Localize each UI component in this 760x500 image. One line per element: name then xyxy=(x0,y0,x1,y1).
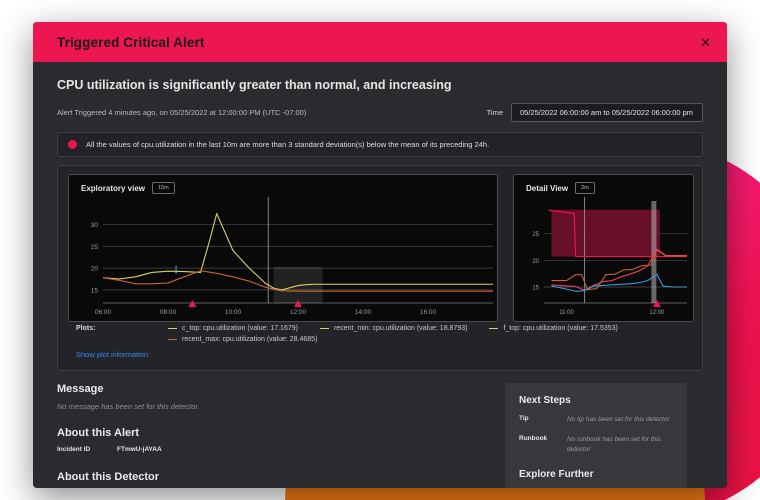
exploratory-chart-title: Exploratory view xyxy=(81,184,145,193)
legend-swatch-icon xyxy=(168,328,177,330)
exploratory-chart-header: Exploratory view 15m xyxy=(69,175,497,194)
dialog-title: Triggered Critical Alert xyxy=(57,35,204,50)
detail-plot-area: 15202511:0012:00 xyxy=(514,197,693,326)
charts-panel: Exploratory view 15m 1520253006:0008:001… xyxy=(57,165,703,371)
incident-id-row: Incident ID FTmwU-jAYAA xyxy=(57,446,489,453)
alert-triggered-meta: Alert Triggered 4 minutes ago, on 05/25/… xyxy=(57,108,306,117)
time-range-control: Time xyxy=(487,103,703,122)
exploratory-resolution-badge[interactable]: 15m xyxy=(152,182,175,194)
svg-text:15: 15 xyxy=(91,287,99,294)
svg-text:15: 15 xyxy=(532,286,539,292)
svg-text:06:00: 06:00 xyxy=(95,309,112,316)
bottom-sections: Message No message has been set for this… xyxy=(57,383,703,488)
next-steps-panel: Next Steps Tip No tip has been set for t… xyxy=(505,383,687,488)
next-steps-runbook-row: Runbook No runbook has been set for this… xyxy=(519,435,673,455)
svg-text:08:00: 08:00 xyxy=(160,309,177,316)
plot-legend-item[interactable]: c_top: cpu.utilization (value: 17.1679) xyxy=(168,325,298,332)
dialog-body: CPU utilization is significantly greater… xyxy=(33,62,727,488)
svg-text:25: 25 xyxy=(532,232,539,238)
tip-value: No tip has been set for this detector xyxy=(567,415,670,425)
runbook-key: Runbook xyxy=(519,435,557,455)
detail-chart-header: Detail View 2m xyxy=(514,175,693,194)
exploratory-plot-area: 1520253006:0008:0010:0012:0014:0016:00 xyxy=(69,197,497,326)
legend-swatch-icon xyxy=(489,328,498,330)
tip-key: Tip xyxy=(519,415,557,425)
plots-legend-label: Plots: xyxy=(76,325,168,343)
svg-text:12:00: 12:00 xyxy=(649,310,665,316)
detail-resolution-badge[interactable]: 2m xyxy=(575,182,595,194)
close-icon[interactable]: ✕ xyxy=(700,36,711,49)
dialog-header: Triggered Critical Alert ✕ xyxy=(33,22,727,62)
exploratory-svg: 1520253006:0008:0010:0012:0014:0016:00 xyxy=(69,197,499,321)
alert-condition-bar: All the values of cpu.utilization in the… xyxy=(57,132,703,157)
plot-legend-label: c_top: cpu.utilization (value: 17.1679) xyxy=(182,325,298,332)
incident-id-key: Incident ID xyxy=(57,446,103,453)
plot-legend-item[interactable]: recent_min: cpu.utilization (value: 18.8… xyxy=(320,325,467,332)
svg-text:12:00: 12:00 xyxy=(290,309,307,316)
plots-legend-block: Plots: c_top: cpu.utilization (value: 17… xyxy=(66,325,694,362)
about-alert-section-title: About this Alert xyxy=(57,427,489,439)
svg-text:20: 20 xyxy=(91,266,99,273)
alert-condition-text: All the values of cpu.utilization in the… xyxy=(86,140,489,149)
exploratory-view-chart[interactable]: Exploratory view 15m 1520253006:0008:001… xyxy=(68,174,498,322)
incident-id-value: FTmwU-jAYAA xyxy=(117,446,162,453)
plots-legend: Plots: c_top: cpu.utilization (value: 17… xyxy=(66,325,694,343)
alert-dialog: Triggered Critical Alert ✕ CPU utilizati… xyxy=(33,22,727,488)
next-steps-title: Next Steps xyxy=(519,395,673,406)
svg-text:16:00: 16:00 xyxy=(420,309,437,316)
show-plot-information-link[interactable]: Show plot information xyxy=(66,343,148,359)
plot-legend-label: f_top: cpu.utilization (value: 17.5353) xyxy=(503,325,617,332)
severity-dot-icon xyxy=(68,140,77,149)
legend-swatch-icon xyxy=(168,339,177,341)
plot-legend-label: recent_max: cpu.utilization (value: 28.4… xyxy=(182,336,317,343)
plot-legend-item[interactable]: f_top: cpu.utilization (value: 17.5353) xyxy=(489,325,617,332)
detail-svg: 15202511:0012:00 xyxy=(514,197,695,321)
svg-text:25: 25 xyxy=(91,244,99,251)
message-body: No message has been set for this detecto… xyxy=(57,402,489,411)
plot-legend-label: recent_min: cpu.utilization (value: 18.8… xyxy=(334,325,467,332)
detail-chart-title: Detail View xyxy=(526,184,568,193)
alert-headline: CPU utilization is significantly greater… xyxy=(57,78,703,92)
svg-text:11:00: 11:00 xyxy=(559,310,574,316)
alert-meta-row: Alert Triggered 4 minutes ago, on 05/25/… xyxy=(57,103,703,122)
svg-text:30: 30 xyxy=(91,222,99,229)
explore-further-title: Explore Further xyxy=(519,469,673,480)
time-label: Time xyxy=(487,108,503,117)
screenshot-root: Triggered Critical Alert ✕ CPU utilizati… xyxy=(0,0,760,500)
legend-swatch-icon xyxy=(320,328,329,330)
detail-view-chart[interactable]: Detail View 2m 15202511:0012:00 xyxy=(513,174,694,322)
plots-legend-items: c_top: cpu.utilization (value: 17.1679)r… xyxy=(168,325,684,343)
runbook-value: No runbook has been set for this detecto… xyxy=(567,435,673,455)
svg-text:20: 20 xyxy=(532,259,539,265)
next-steps-tip-row: Tip No tip has been set for this detecto… xyxy=(519,415,673,425)
about-detector-section-title: About this Detector xyxy=(57,471,489,483)
details-column: Message No message has been set for this… xyxy=(57,383,505,488)
svg-text:10:00: 10:00 xyxy=(225,309,242,316)
time-range-input[interactable] xyxy=(511,103,703,122)
message-section-title: Message xyxy=(57,383,489,395)
svg-text:14:00: 14:00 xyxy=(355,309,372,316)
plot-legend-item[interactable]: recent_max: cpu.utilization (value: 28.4… xyxy=(168,336,317,343)
